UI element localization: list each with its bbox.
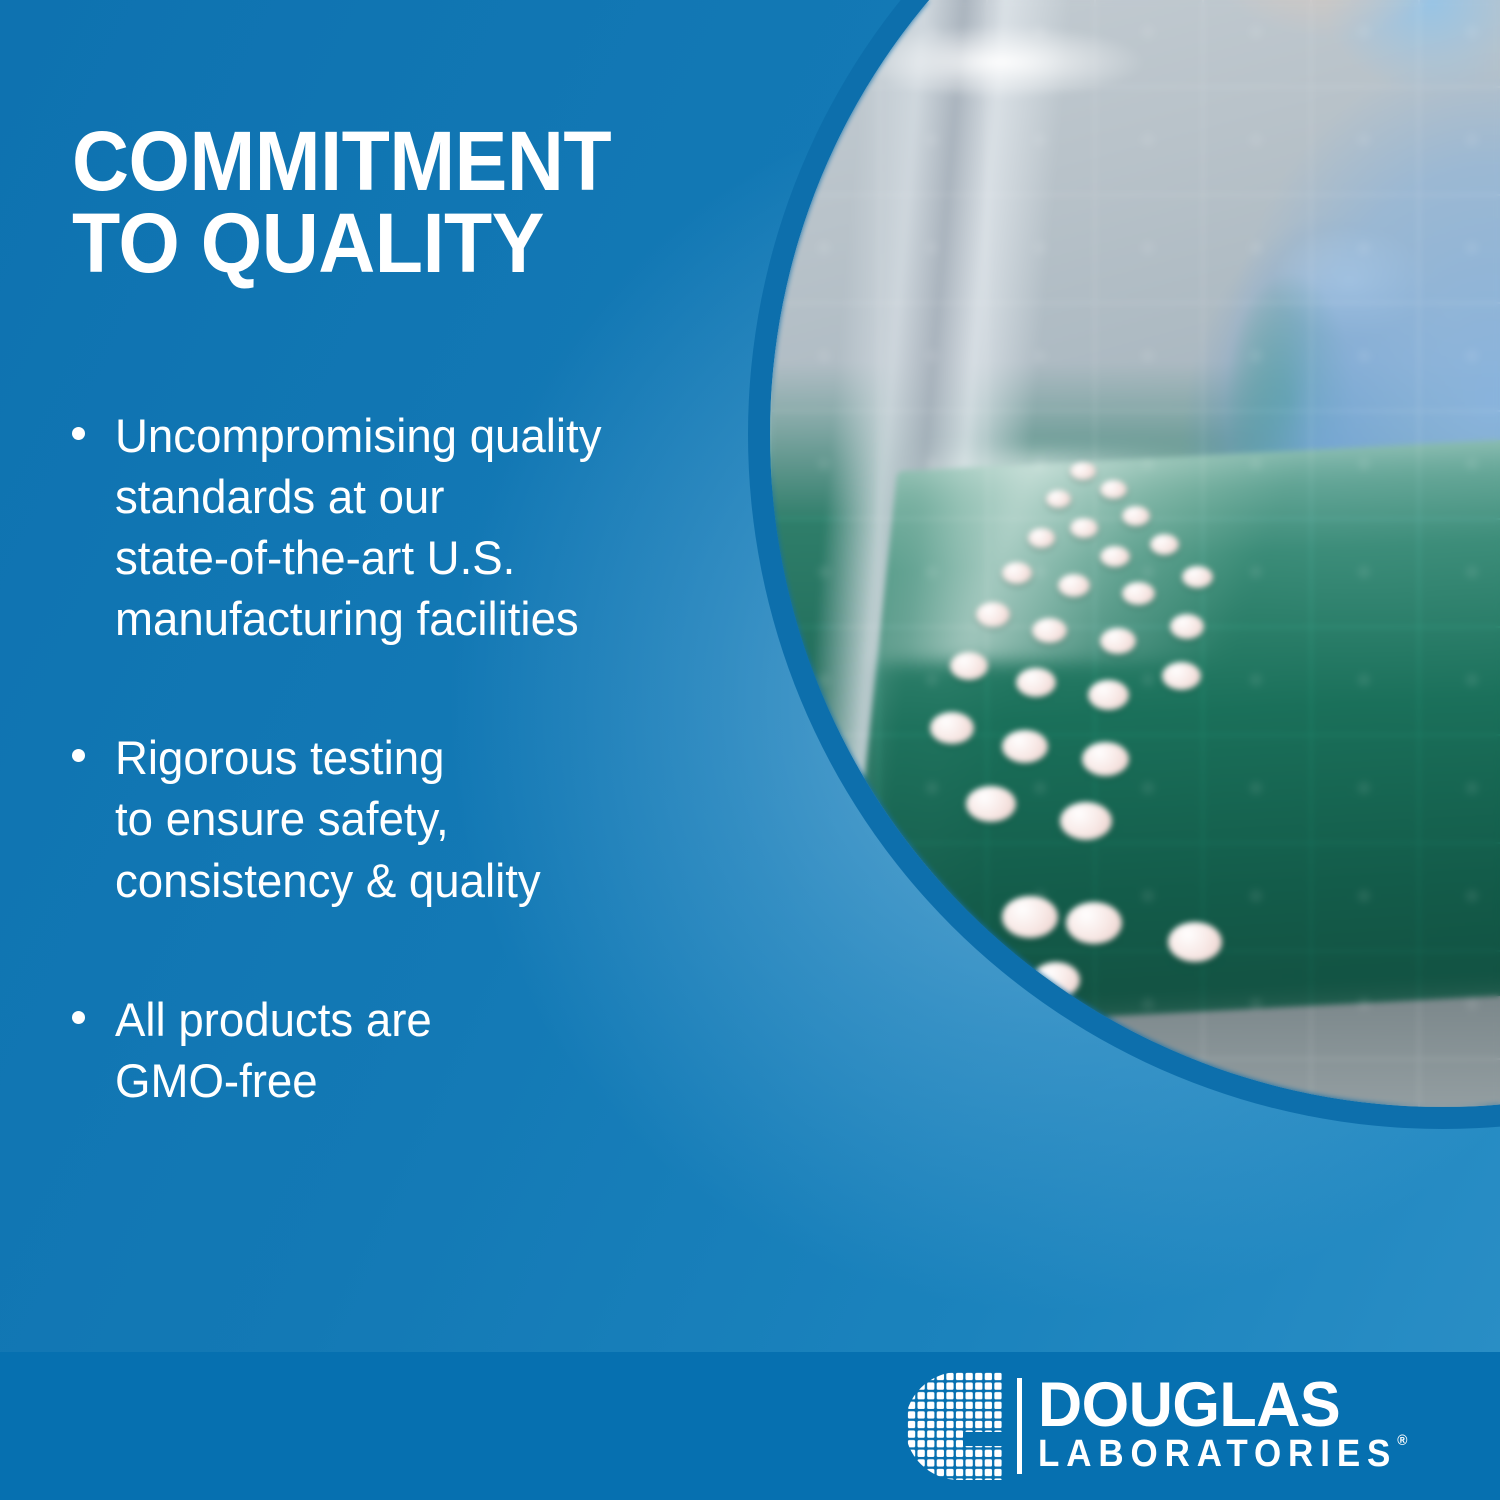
bullet-dot-icon xyxy=(72,427,85,440)
bullet-dot-icon xyxy=(72,749,85,762)
manufacturing-photo xyxy=(770,0,1500,1107)
feature-bullet-list: Uncompromising quality standards at our … xyxy=(72,405,772,1189)
list-item: All products are GMO-free xyxy=(72,989,772,1111)
logo-wordmark: DOUGLAS LABORATORIES® xyxy=(1038,1377,1429,1475)
logo-primary-text: DOUGLAS xyxy=(1038,1377,1417,1435)
photo-depth-blur xyxy=(770,0,1500,1107)
bullet-dot-icon xyxy=(72,1011,85,1024)
logo-secondary-text: LABORATORIES® xyxy=(1038,1435,1397,1475)
bullet-text: Rigorous testing to ensure safety, consi… xyxy=(115,727,541,910)
bullet-text: All products are GMO-free xyxy=(115,989,432,1111)
quality-promo-graphic: COMMITMENT TO QUALITY Uncompromising qua… xyxy=(0,0,1500,1500)
dotted-grid-g-icon xyxy=(907,1372,1003,1480)
brand-logo: DOUGLAS LABORATORIES® xyxy=(907,1372,1429,1480)
list-item: Uncompromising quality standards at our … xyxy=(72,405,772,649)
page-title: COMMITMENT TO QUALITY xyxy=(72,120,730,285)
registered-trademark-icon: ® xyxy=(1397,1433,1407,1449)
list-item: Rigorous testing to ensure safety, consi… xyxy=(72,727,772,910)
logo-divider xyxy=(1017,1378,1022,1474)
bullet-text: Uncompromising quality standards at our … xyxy=(115,405,602,649)
logo-secondary-label: LABORATORIES xyxy=(1038,1433,1397,1475)
